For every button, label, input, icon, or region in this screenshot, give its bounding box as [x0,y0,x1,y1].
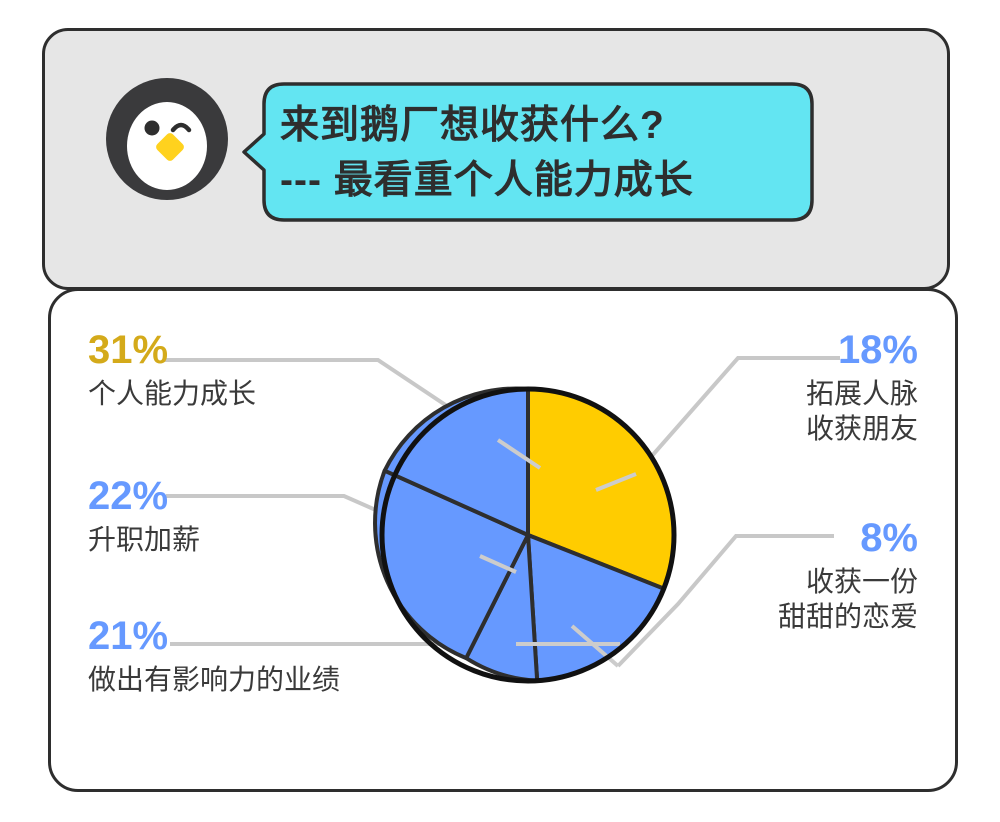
pie-label-22-text: 升职加薪 [88,522,200,557]
pie-label-21-text: 做出有影响力的业绩 [88,662,340,697]
pie-label-31-text: 个人能力成长 [88,376,256,411]
penguin-mascot-icon [104,76,230,202]
pie-label-22: 22% 升职加薪 [88,476,200,557]
pie-label-18-text: 拓展人脉 收获朋友 [806,376,918,446]
speech-bubble: 来到鹅厂想收获什么? --- 最看重个人能力成长 [236,74,816,230]
pie-label-18: 18% 拓展人脉 收获朋友 [806,330,918,446]
pie-label-8: 8% 收获一份 甜甜的恋爱 [778,518,918,634]
pie-label-31-value: 31% [88,330,256,370]
pie-label-31: 31% 个人能力成长 [88,330,256,411]
pie-label-22-value: 22% [88,476,200,516]
pie-label-8-text: 收获一份 甜甜的恋爱 [778,564,918,634]
pie-label-8-value: 8% [778,518,918,558]
pie-label-21-value: 21% [88,616,340,656]
pie-label-21: 21% 做出有影响力的业绩 [88,616,340,697]
speech-bubble-shape [236,74,816,230]
pie-label-18-value: 18% [806,330,918,370]
infographic-poster: 来到鹅厂想收获什么? --- 最看重个人能力成长 [0,0,1000,822]
